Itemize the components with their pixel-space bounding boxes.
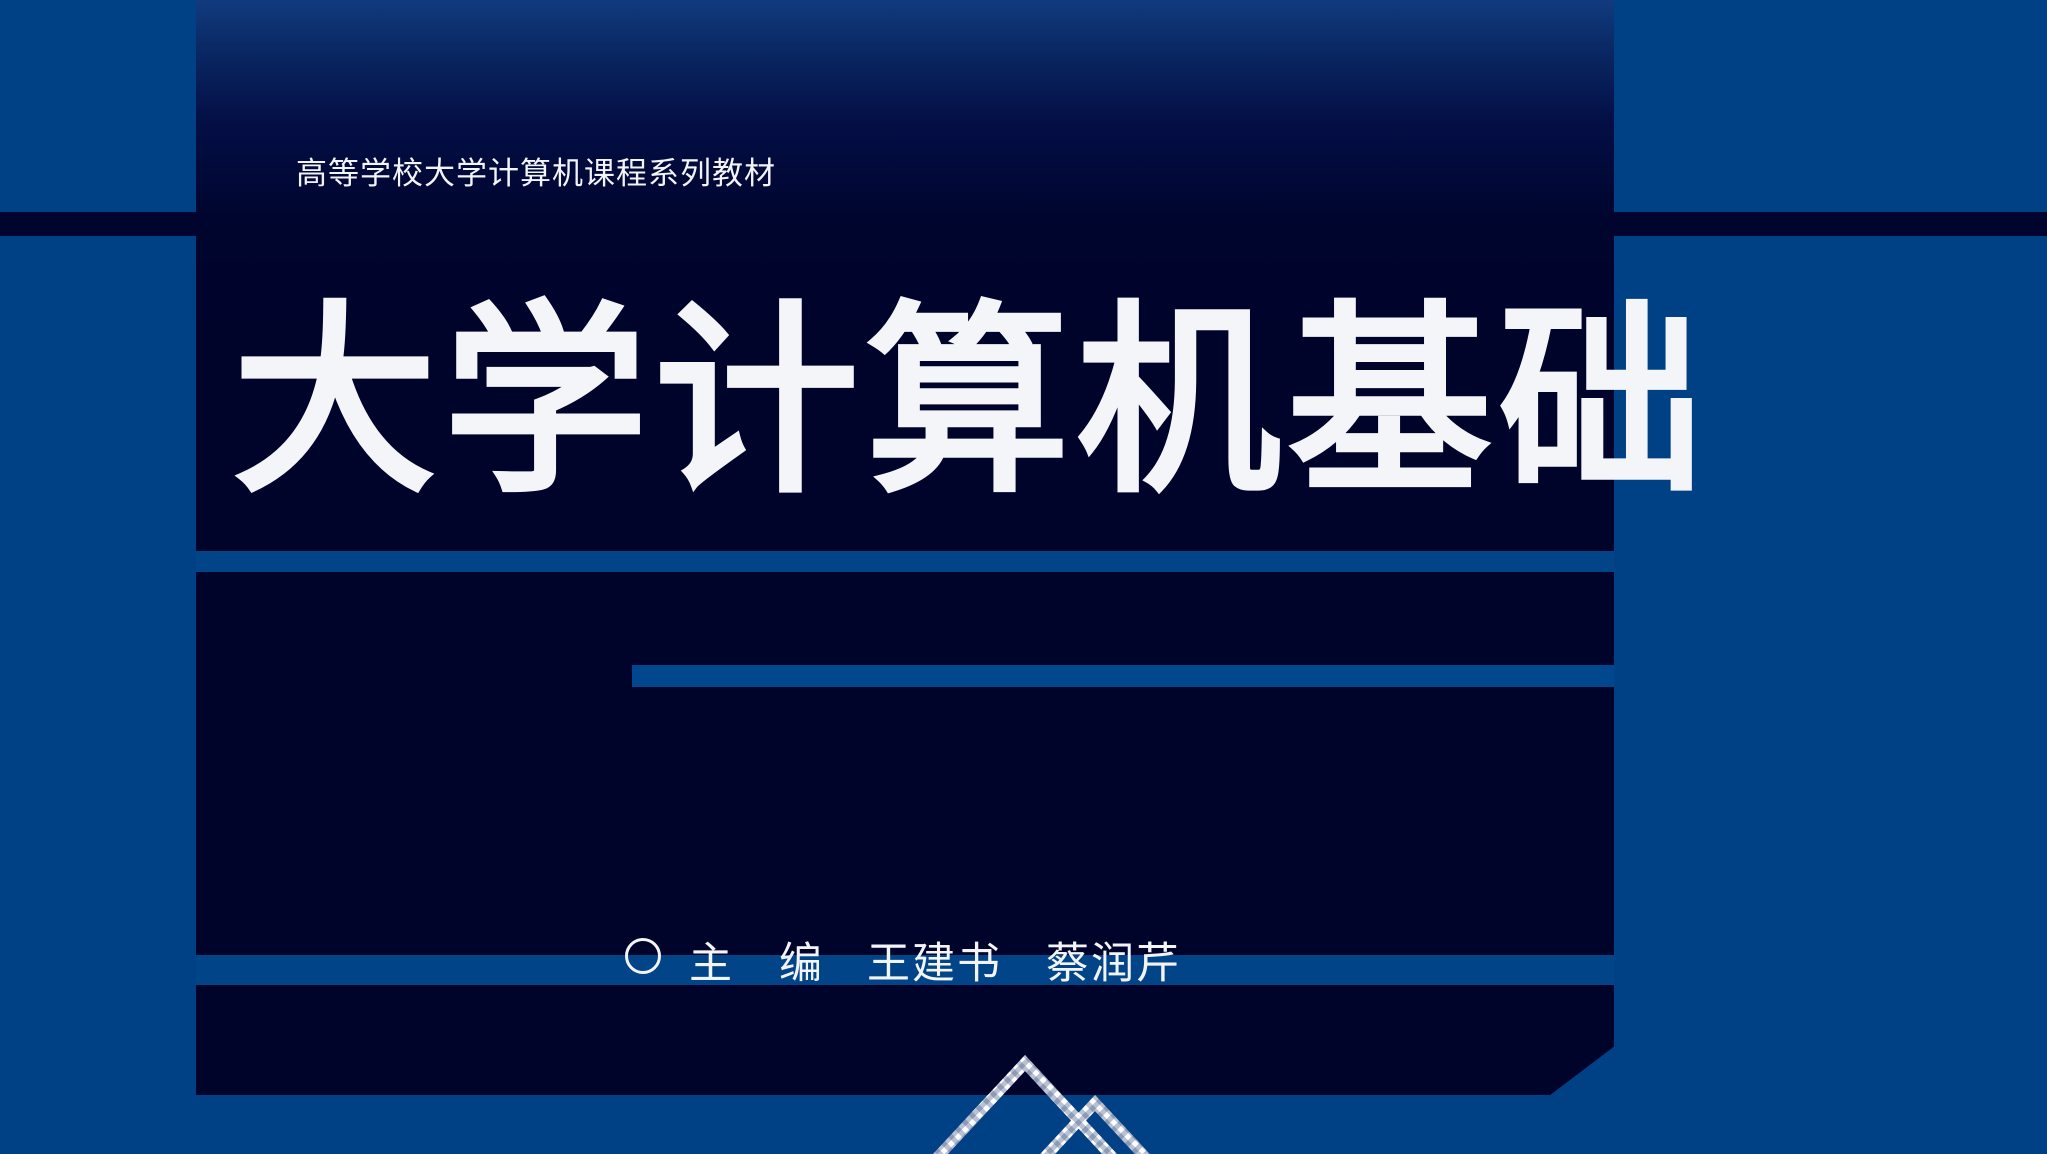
book-cover: 高等学校大学计算机课程系列教材 大学计算机基础 主 编 王建书 蔡润芹 副主编 …	[0, 0, 2047, 1154]
accent-bar	[632, 665, 1614, 687]
credits-list: 主 编 王建书 蔡润芹 副主编 杨润标 董万归 杨邓奇 杨锦伟 寸仙娥	[625, 747, 1404, 1154]
credit-name: 蔡润芹	[1046, 933, 1181, 995]
background-block-top-right	[1614, 0, 2047, 212]
background-block-left-column	[0, 236, 196, 1094]
credit-role: 主 编	[689, 933, 867, 995]
credit-name: 王建书	[867, 933, 1002, 995]
background-block-top-left	[0, 0, 196, 212]
ring-bullet-icon	[625, 938, 661, 974]
credit-row: 主 编 王建书 蔡润芹	[625, 933, 1404, 995]
page-title: 大学计算机基础	[232, 300, 1709, 505]
series-label: 高等学校大学计算机课程系列教材	[296, 148, 776, 193]
separator-band-upper	[196, 551, 1614, 572]
